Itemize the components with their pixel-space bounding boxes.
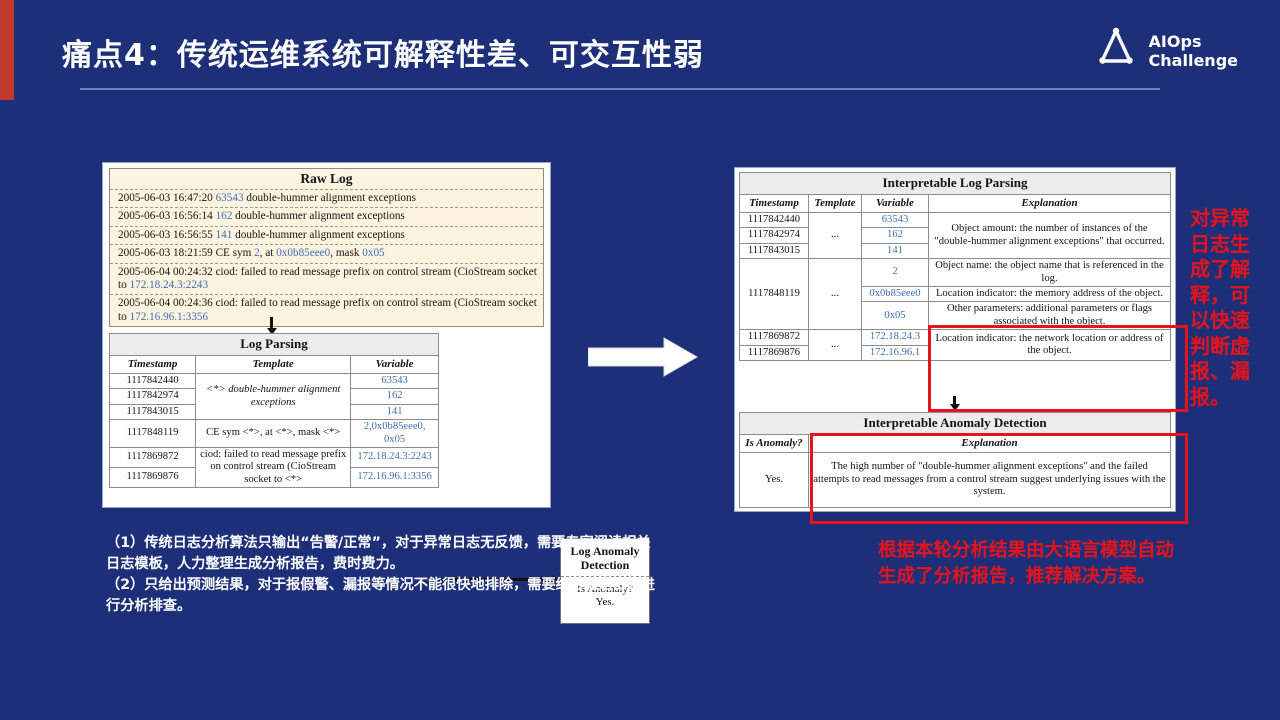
cell-timestamp: 1117869872	[740, 330, 809, 345]
raw-log-line: 2005-06-03 18:21:59 CE sym 2, at 0x0b85e…	[110, 244, 543, 262]
table-row: Yes. The high number of "double-hummer a…	[740, 453, 1171, 508]
raw-log-line: 2005-06-03 16:47:20 63543 double-hummer …	[110, 189, 543, 207]
brand-logo: AIOps Challenge	[1096, 24, 1238, 78]
column-header-timestamp: Timestamp	[740, 195, 809, 213]
cell-timestamp: 1117869876	[110, 468, 196, 488]
table-row: 1117842440 ... 63543 Object amount: the …	[740, 213, 1171, 228]
left-pain-point-note: （1）传统日志分析算法只输出“告警/正常”，对于异常日志无反馈，需要专家阅读相关…	[106, 533, 658, 617]
cell-explanation: The high number of "double-hummer alignm…	[809, 453, 1171, 508]
log-parsing-header-row: Timestamp Template Variable	[110, 356, 439, 374]
raw-log-lines: 2005-06-03 16:47:20 63543 double-hummer …	[110, 189, 543, 326]
cell-variable: 162	[862, 228, 929, 243]
cell-variable: 0x0b85eee0	[862, 287, 929, 302]
table-row: 1117869872 ciod: failed to read message …	[110, 448, 439, 468]
cell-timestamp: 1117869872	[110, 448, 196, 468]
raw-log-line: 2005-06-04 00:24:36 ciod: failed to read…	[110, 294, 543, 326]
cell-timestamp: 1117848119	[110, 420, 196, 448]
red-side-note: 对异常日志生成了解释，可以快速判断虚报、漏报。	[1190, 206, 1266, 410]
column-header-template: Template	[809, 195, 862, 213]
cell-timestamp: 1117842974	[110, 389, 196, 404]
iad-header-row: Is Anomaly? Explanation	[740, 435, 1171, 453]
cell-template: ...	[809, 213, 862, 259]
cell-timestamp: 1117843015	[740, 243, 809, 258]
raw-log-line: 2005-06-03 16:56:14 162 double-hummer al…	[110, 207, 543, 225]
column-header-variable: Variable	[862, 195, 929, 213]
cell-timestamp: 1117869876	[740, 345, 809, 360]
log-parsing-table: Log Parsing Timestamp Template Variable …	[109, 333, 439, 488]
column-header-template: Template	[196, 356, 351, 374]
page-title: 痛点4：传统运维系统可解释性差、可交互性弱	[62, 30, 704, 74]
cell-variable: 0x05	[862, 302, 929, 330]
cell-variable: 172.16.96.1:3356	[351, 468, 439, 488]
column-header-explanation: Explanation	[809, 435, 1171, 453]
table-row: 1117869872 ... 172.18.24.3 Location indi…	[740, 330, 1171, 345]
interpretable-log-parsing-title: Interpretable Log Parsing	[740, 173, 1171, 195]
logo-text: AIOps Challenge	[1149, 32, 1238, 70]
cell-template: ...	[809, 330, 862, 361]
cell-variable: 172.18.24.3	[862, 330, 929, 345]
cell-variable: 172.18.24.3:2243	[351, 448, 439, 468]
raw-log-block: Raw Log 2005-06-03 16:47:20 63543 double…	[109, 168, 544, 327]
column-header-variable: Variable	[351, 356, 439, 374]
flow-arrow	[588, 337, 698, 377]
cell-timestamp: 1117848119	[740, 259, 809, 330]
right-diagram-panel: Interpretable Log Parsing Timestamp Temp…	[735, 168, 1175, 511]
raw-log-title: Raw Log	[110, 169, 543, 189]
cell-variable: 63543	[862, 213, 929, 228]
connector-arrow-down	[270, 317, 273, 329]
aiops-challenge-logo-icon	[1096, 26, 1140, 77]
raw-log-line: 2005-06-03 16:56:55 141 double-hummer al…	[110, 226, 543, 244]
cell-variable: 141	[351, 404, 439, 419]
cell-template: CE sym <*>, at <*>, mask <*>	[196, 420, 351, 448]
cell-variable: 2,0x0b85eee0, 0x05	[351, 420, 439, 448]
header-accent-bar	[0, 0, 14, 100]
interpretable-anomaly-detection-title: Interpretable Anomaly Detection	[740, 413, 1171, 435]
cell-template: ciod: failed to read message prefix on c…	[196, 448, 351, 488]
cell-timestamp: 1117842440	[110, 374, 196, 389]
red-bottom-note: 根据本轮分析结果由大语言模型自动生成了分析报告，推荐解决方案。	[878, 538, 1188, 590]
interpretable-log-parsing-block: Interpretable Log Parsing Timestamp Temp…	[739, 172, 1171, 361]
connector-arrow-down	[953, 396, 956, 405]
cell-is-anomaly: Yes.	[740, 453, 809, 508]
column-header-is-anomaly: Is Anomaly?	[740, 435, 809, 453]
cell-explanation: Object amount: the number of instances o…	[929, 213, 1171, 259]
cell-variable: 141	[862, 243, 929, 258]
interpretable-anomaly-detection-block: Interpretable Anomaly Detection Is Anoma…	[739, 412, 1171, 508]
table-row: 1117842440 <*> double-hummer alignment e…	[110, 374, 439, 389]
cell-variable: 162	[351, 389, 439, 404]
column-header-timestamp: Timestamp	[110, 356, 196, 374]
cell-template: ...	[809, 259, 862, 330]
cell-timestamp: 1117842440	[740, 213, 809, 228]
table-row: 1117848119 CE sym <*>, at <*>, mask <*> …	[110, 420, 439, 448]
cell-explanation: Location indicator: the memory address o…	[929, 287, 1171, 302]
log-parsing-block: Log Parsing Timestamp Template Variable …	[109, 333, 439, 488]
header-divider	[80, 88, 1160, 90]
cell-explanation: Other parameters: additional parameters …	[929, 302, 1171, 330]
cell-timestamp: 1117842974	[740, 228, 809, 243]
cell-variable: 2	[862, 259, 929, 287]
logo-line-2: Challenge	[1149, 51, 1238, 70]
cell-variable: 63543	[351, 374, 439, 389]
logo-line-1: AIOps	[1149, 32, 1202, 51]
ilp-header-row: Timestamp Template Variable Explanation	[740, 195, 1171, 213]
note-line-2: （2）只给出预测结果，对于报假警、漏报等情况不能很快地排除，需要结合原始日志进行…	[106, 575, 658, 617]
cell-explanation: Object name: the object name that is ref…	[929, 259, 1171, 287]
cell-explanation: Location indicator: the network location…	[929, 330, 1171, 361]
column-header-explanation: Explanation	[929, 195, 1171, 213]
cell-template: <*> double-hummer alignment exceptions	[196, 374, 351, 420]
left-diagram-panel: Raw Log 2005-06-03 16:47:20 63543 double…	[103, 163, 550, 507]
cell-timestamp: 1117843015	[110, 404, 196, 419]
cell-variable: 172.16.96.1	[862, 345, 929, 360]
log-parsing-title: Log Parsing	[110, 334, 439, 356]
interpretable-anomaly-detection-table: Interpretable Anomaly Detection Is Anoma…	[739, 412, 1171, 508]
note-line-1: （1）传统日志分析算法只输出“告警/正常”，对于异常日志无反馈，需要专家阅读相关…	[106, 533, 658, 575]
interpretable-log-parsing-table: Interpretable Log Parsing Timestamp Temp…	[739, 172, 1171, 361]
page-header: 痛点4：传统运维系统可解释性差、可交互性弱 AIOps Challenge	[0, 0, 1280, 100]
raw-log-line: 2005-06-04 00:24:32 ciod: failed to read…	[110, 263, 543, 295]
table-row: 1117848119 ... 2 Object name: the object…	[740, 259, 1171, 287]
